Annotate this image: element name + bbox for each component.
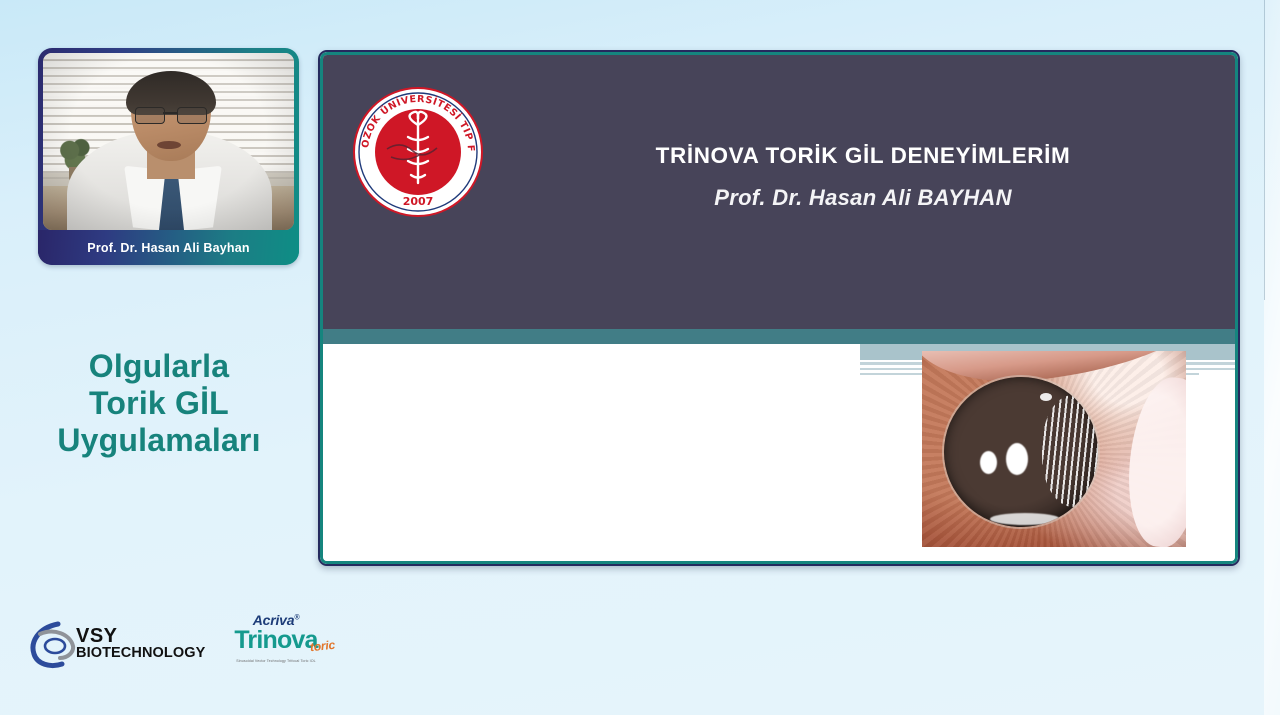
registered-mark-icon: ® (294, 614, 299, 621)
webcam-vignette (43, 53, 294, 230)
slide-panel[interactable]: YOZGAT BOZOK ÜNİVERSİTESİ TIP FAKÜLTESİ … (318, 50, 1240, 566)
speaker-name-label: Prof. Dr. Hasan Ali Bayhan (87, 241, 249, 255)
clinical-eye-photo (922, 351, 1186, 547)
presentation-stage: Prof. Dr. Hasan Ali Bayhan Olgularla Tor… (0, 0, 1280, 715)
speaker-video-panel[interactable]: Prof. Dr. Hasan Ali Bayhan (38, 48, 299, 265)
decorative-right-strip (1264, 0, 1280, 715)
trinova-product-name: Trinova toric (211, 628, 341, 653)
light-reflex-glint (1040, 393, 1052, 401)
slide-title: TRİNOVA TORİK GİL DENEYİMLERİM (513, 143, 1213, 169)
footer-logos: VSY BIOTECHNOLOGY Acriva® Trinova toric … (28, 612, 348, 682)
slide-inner-frame: YOZGAT BOZOK ÜNİVERSİTESİ TIP FAKÜLTESİ … (320, 52, 1238, 564)
intraocular-lens (944, 377, 1098, 527)
vsy-line-2: BIOTECHNOLOGY (76, 645, 205, 662)
vsy-eye-mark-icon (28, 618, 76, 670)
slide-title-block: TRİNOVA TORİK GİL DENEYİMLERİM Prof. Dr.… (513, 143, 1213, 211)
slide-subtitle: Prof. Dr. Hasan Ali BAYHAN (513, 185, 1213, 211)
vsy-wordmark: VSY BIOTECHNOLOGY (76, 628, 205, 662)
slide-divider-band (323, 329, 1235, 344)
iol-diffractive-rings (1042, 395, 1098, 507)
trinova-variant-text: toric (309, 633, 336, 660)
session-headline-line-1: Olgularla (0, 348, 318, 385)
light-reflex-glint (1006, 443, 1028, 475)
vsy-line-1: VSY (76, 628, 205, 645)
iol-haptic (990, 513, 1060, 525)
vsy-biotechnology-logo: VSY BIOTECHNOLOGY (28, 618, 200, 674)
light-reflex-glint (980, 451, 997, 474)
emblem-year: 2007 (403, 195, 434, 208)
decorative-right-hairline (1264, 0, 1265, 300)
session-headline: Olgularla Torik GİL Uygulamaları (0, 348, 318, 459)
trinova-tagline: Sinusoidal Vector Technology Trifocal To… (211, 659, 341, 663)
acriva-trinova-toric-logo: Acriva® Trinova toric Sinusoidal Vector … (211, 612, 341, 674)
trinova-product-text: Trinova (234, 626, 317, 654)
session-headline-line-3: Uygulamaları (0, 422, 318, 459)
speaker-video-frame[interactable] (43, 53, 294, 230)
university-emblem-icon: YOZGAT BOZOK ÜNİVERSİTESİ TIP FAKÜLTESİ … (351, 85, 485, 219)
session-headline-line-2: Torik GİL (0, 385, 318, 422)
speaker-name-bar: Prof. Dr. Hasan Ali Bayhan (38, 230, 299, 265)
